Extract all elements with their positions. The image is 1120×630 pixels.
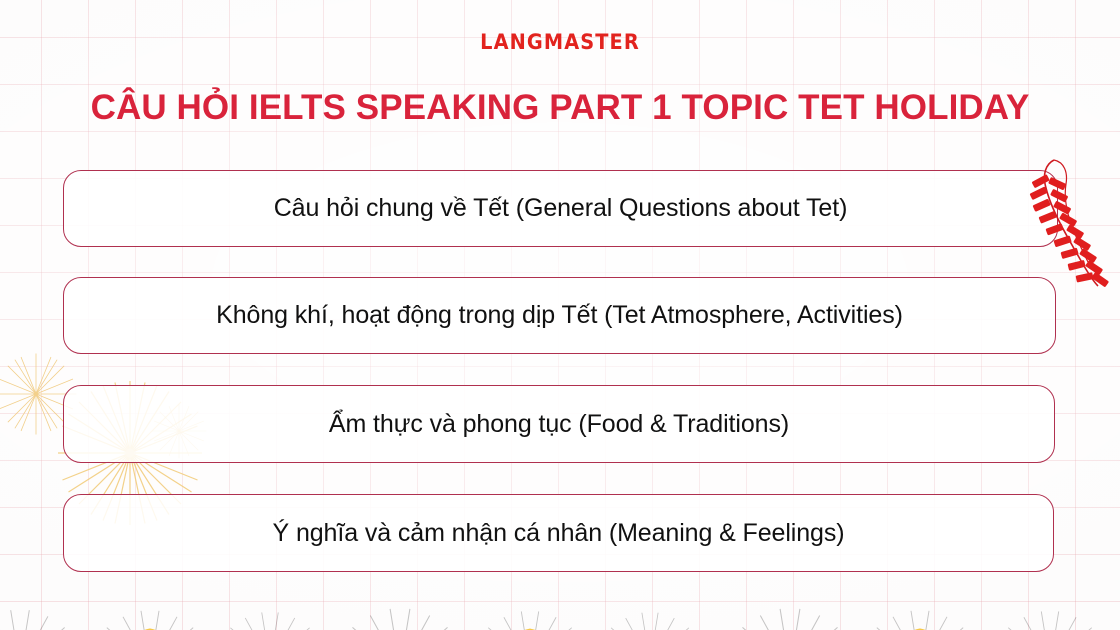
topic-label: Không khí, hoạt động trong dịp Tết (Tet … bbox=[216, 301, 903, 330]
page-title: CÂU HỎI IELTS SPEAKING PART 1 TOPIC TET … bbox=[0, 88, 1120, 128]
poster-canvas: LANGMASTER CÂU HỎI IELTS SPEAKING PART 1… bbox=[0, 0, 1120, 630]
topic-label: Câu hỏi chung về Tết (General Questions … bbox=[274, 194, 848, 223]
topic-label: Ý nghĩa và cảm nhận cá nhân (Meaning & F… bbox=[273, 519, 845, 548]
topic-box-1[interactable]: Câu hỏi chung về Tết (General Questions … bbox=[63, 170, 1058, 247]
topic-box-4[interactable]: Ý nghĩa và cảm nhận cá nhân (Meaning & F… bbox=[63, 494, 1054, 572]
topic-box-3[interactable]: Ẩm thực và phong tục (Food & Traditions) bbox=[63, 385, 1055, 463]
topic-label: Ẩm thực và phong tục (Food & Traditions) bbox=[329, 410, 789, 439]
brand-logo: LANGMASTER bbox=[45, 30, 1075, 54]
topic-box-2[interactable]: Không khí, hoạt động trong dịp Tết (Tet … bbox=[63, 277, 1056, 354]
